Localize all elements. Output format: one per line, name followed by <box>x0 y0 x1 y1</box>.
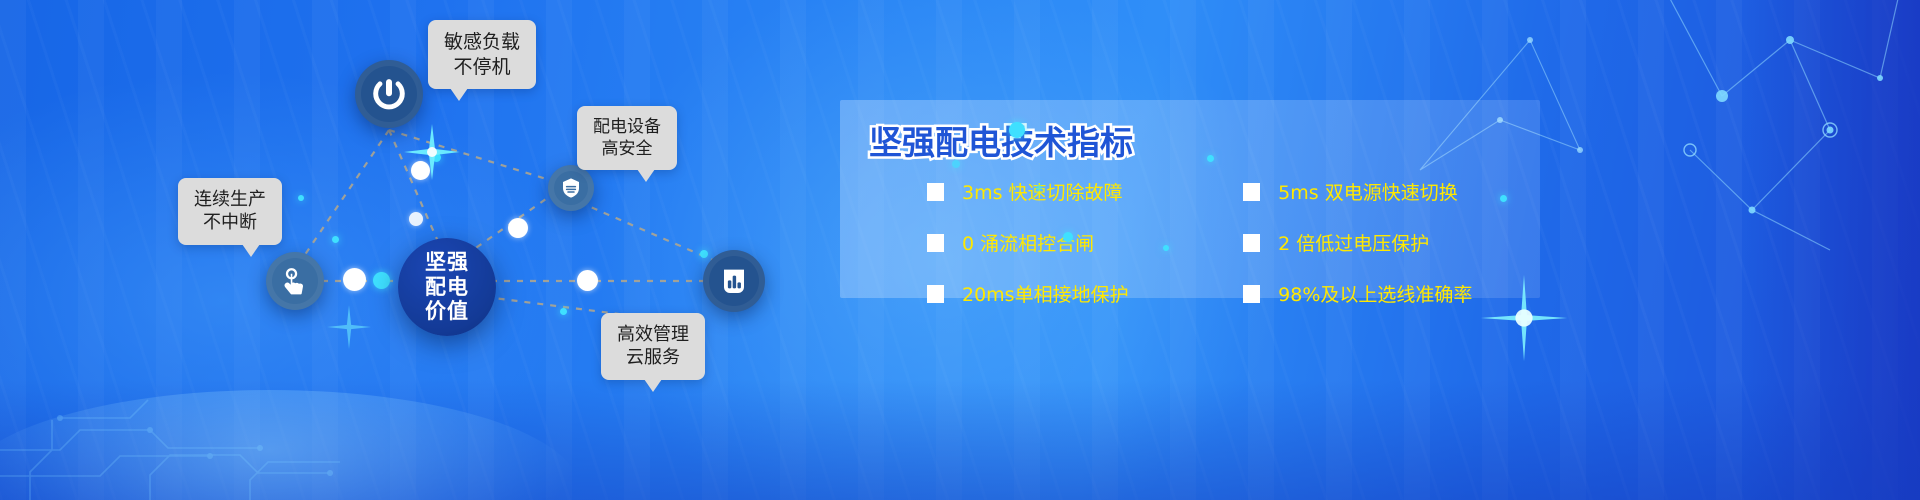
hub-line-2: 配电 <box>425 275 469 300</box>
callout-power[interactable]: 敏感负载 不停机 <box>428 20 536 89</box>
shield-icon[interactable] <box>548 165 594 211</box>
spec-item: 0 涌流相控合闸 <box>927 229 1183 256</box>
spec-text: 5ms 双电源快速切换 <box>1278 178 1458 205</box>
callout-shield-line-1: 配电设备 <box>593 116 661 138</box>
bullet-square-icon <box>927 183 944 201</box>
accent-dot <box>560 308 567 315</box>
spec-item: 3ms 快速切除故障 <box>927 178 1183 205</box>
value-network-diagram: 坚强 配电 价值 敏感负载 不停机 配电设备 高安全 连续生产 不中断 高效管理… <box>0 0 860 500</box>
accent-dot <box>373 272 390 289</box>
accent-dot <box>1009 122 1025 138</box>
accent-dot <box>1036 185 1042 191</box>
spec-item: 20ms单相接地保护 <box>927 280 1183 307</box>
bullet-square-icon <box>927 285 944 303</box>
connector-dot <box>577 270 598 291</box>
spec-text: 98%及以上选线准确率 <box>1278 280 1472 307</box>
accent-dot <box>952 160 960 168</box>
accent-dot <box>298 195 304 201</box>
callout-hand[interactable]: 连续生产 不中断 <box>178 178 282 245</box>
accent-dot <box>1163 245 1169 251</box>
bullet-square-icon <box>927 234 944 252</box>
callout-hand-line-1: 连续生产 <box>194 188 266 211</box>
hand-touch-glyph <box>279 265 311 297</box>
bar-chart-icon[interactable] <box>703 250 765 312</box>
spec-text: 3ms 快速切除故障 <box>962 178 1123 205</box>
callout-cloud-line-2: 云服务 <box>617 346 689 369</box>
connector-dot <box>409 212 423 226</box>
connector-dot <box>508 218 528 238</box>
hub-node[interactable]: 坚强 配电 价值 <box>398 238 496 336</box>
accent-dot <box>1063 232 1073 242</box>
callout-hand-line-2: 不中断 <box>194 211 266 234</box>
bar-chart-glyph <box>718 265 750 297</box>
spec-item: 98%及以上选线准确率 <box>1243 280 1527 307</box>
spec-text: 0 涌流相控合闸 <box>962 229 1094 256</box>
callout-shield-line-2: 高安全 <box>593 138 661 160</box>
callout-power-line-2: 不停机 <box>444 55 520 80</box>
hand-touch-icon[interactable] <box>266 252 324 310</box>
bullet-square-icon <box>1243 285 1260 303</box>
spec-list: 3ms 快速切除故障 5ms 双电源快速切换 0 涌流相控合闸 2 倍低过电压保… <box>927 178 1527 307</box>
bullet-square-icon <box>1243 183 1260 201</box>
spec-item: 2 倍低过电压保护 <box>1243 229 1527 256</box>
shield-glyph <box>559 176 583 200</box>
power-icon[interactable] <box>355 60 423 128</box>
accent-dot <box>332 236 339 243</box>
accent-dot <box>700 250 708 258</box>
accent-dot <box>1207 155 1214 162</box>
accent-dot <box>432 153 441 162</box>
panel-title: 坚强配电技术指标 <box>869 116 1133 164</box>
callout-power-line-1: 敏感负载 <box>444 30 520 55</box>
hub-line-1: 坚强 <box>425 250 469 275</box>
connector-dot <box>411 161 430 180</box>
bullet-square-icon <box>1243 234 1260 252</box>
callout-shield[interactable]: 配电设备 高安全 <box>577 106 677 170</box>
spec-text: 20ms单相接地保护 <box>962 280 1129 307</box>
banner-root: 坚强 配电 价值 敏感负载 不停机 配电设备 高安全 连续生产 不中断 高效管理… <box>0 0 1920 500</box>
accent-dot <box>1500 195 1507 202</box>
spec-item: 5ms 双电源快速切换 <box>1243 178 1527 205</box>
connector-dot <box>343 268 366 291</box>
spec-text: 2 倍低过电压保护 <box>1278 229 1429 256</box>
hub-line-3: 价值 <box>425 299 469 324</box>
power-glyph <box>370 75 408 113</box>
callout-cloud-line-1: 高效管理 <box>617 323 689 346</box>
panel-title-text: 坚强配电技术指标 <box>869 123 1133 162</box>
callout-cloud[interactable]: 高效管理 云服务 <box>601 313 705 380</box>
